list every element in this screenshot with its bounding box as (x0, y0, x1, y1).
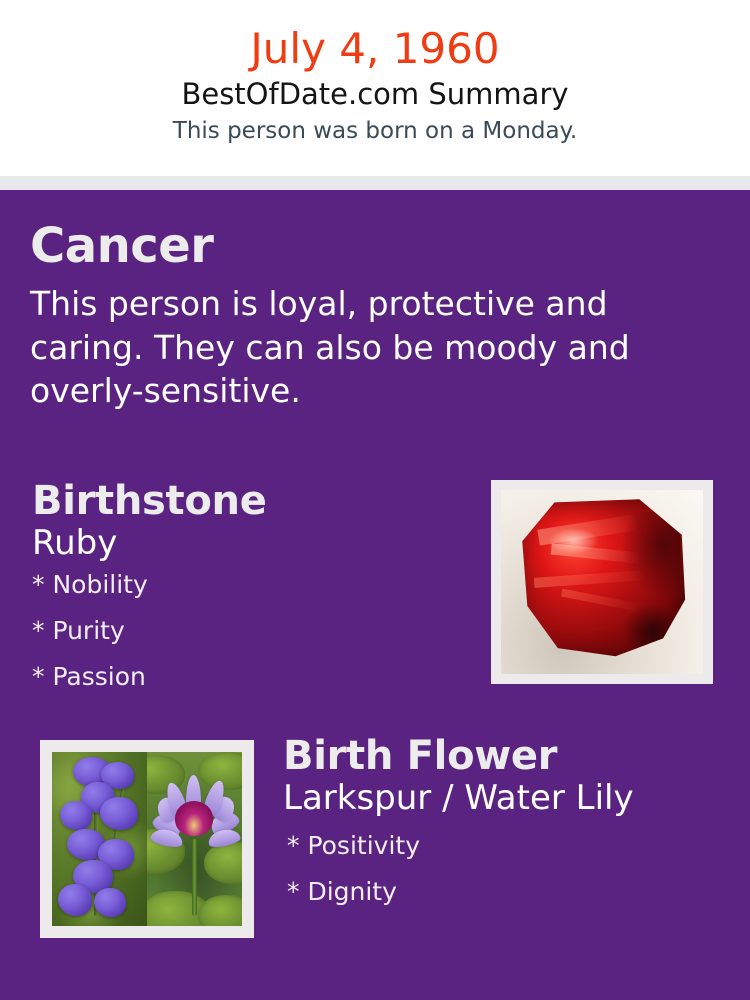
ruby-shadow (622, 512, 680, 596)
larkspur-petal (58, 884, 92, 915)
birth-flower-photo-frame (40, 740, 254, 938)
site-name-subtitle: BestOfDate.com Summary (0, 75, 750, 114)
flower-photo-pair (52, 752, 242, 926)
ruby-shadow (622, 603, 673, 652)
header-divider (0, 176, 750, 190)
birthstone-name: Ruby (32, 523, 462, 564)
ruby-gemstone-icon (501, 490, 703, 674)
birthstone-trait-list: * Nobility * Purity * Passion (32, 572, 462, 689)
zodiac-description: This person is loyal, protective and car… (30, 282, 650, 413)
birthstone-heading: Birthstone (32, 480, 462, 522)
birth-flower-heading: Birth Flower (283, 735, 733, 777)
larkspur-flower-icon (52, 752, 147, 926)
zodiac-section: Cancer This person is loyal, protective … (30, 222, 670, 413)
born-weekday-line: This person was born on a Monday. (0, 116, 750, 147)
page-title-date: July 4, 1960 (0, 26, 750, 71)
list-item: * Dignity (287, 879, 733, 904)
lily-stamen-center (175, 801, 213, 836)
birth-flower-section: Birth Flower Larkspur / Water Lily * Pos… (283, 735, 733, 925)
zodiac-sign-name: Cancer (30, 222, 670, 270)
birthstone-photo-frame (491, 480, 713, 684)
list-item: * Nobility (32, 572, 462, 597)
ruby-highlight (548, 528, 599, 554)
list-item: * Passion (32, 664, 462, 689)
birth-flower-name: Larkspur / Water Lily (283, 778, 733, 819)
larkspur-petal (60, 801, 92, 831)
birth-flower-photo (52, 752, 242, 926)
list-item: * Positivity (287, 833, 733, 858)
water-lily-flower-icon (147, 752, 242, 926)
larkspur-petal (100, 797, 138, 830)
ruby-crystal-shape (517, 499, 687, 661)
list-item: * Purity (32, 618, 462, 643)
birthstone-section: Birthstone Ruby * Nobility * Purity * Pa… (32, 480, 462, 710)
lily-stem (192, 839, 197, 916)
birthstone-photo (501, 490, 703, 674)
birth-flower-trait-list: * Positivity * Dignity (283, 833, 733, 904)
summary-card: July 4, 1960 BestOfDate.com Summary This… (0, 0, 750, 1000)
larkspur-petal (94, 888, 126, 918)
card-header: July 4, 1960 BestOfDate.com Summary This… (0, 0, 750, 176)
